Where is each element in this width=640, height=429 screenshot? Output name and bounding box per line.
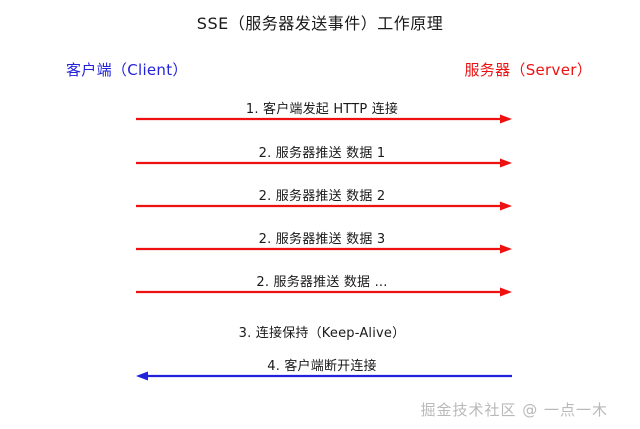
actor-label-server: 服务器（Server） xyxy=(465,59,593,80)
arrow-right xyxy=(136,158,512,170)
watermark: 掘金技术社区 @ 一点一木 xyxy=(420,399,608,420)
arrow-right xyxy=(136,114,512,126)
arrow-right xyxy=(136,244,512,256)
actor-label-client: 客户端（Client） xyxy=(66,59,188,80)
arrow-right xyxy=(136,201,512,213)
sse-sequence-diagram: SSE（服务器发送事件）工作原理 客户端（Client） 服务器（Server）… xyxy=(0,0,640,429)
page-title: SSE（服务器发送事件）工作原理 xyxy=(0,10,640,34)
arrow-right xyxy=(136,287,512,299)
step-label-text: 3. 连接保持（Keep-Alive） xyxy=(239,326,406,341)
step-label: 3. 连接保持（Keep-Alive） xyxy=(0,322,640,341)
arrow-left xyxy=(136,371,512,383)
